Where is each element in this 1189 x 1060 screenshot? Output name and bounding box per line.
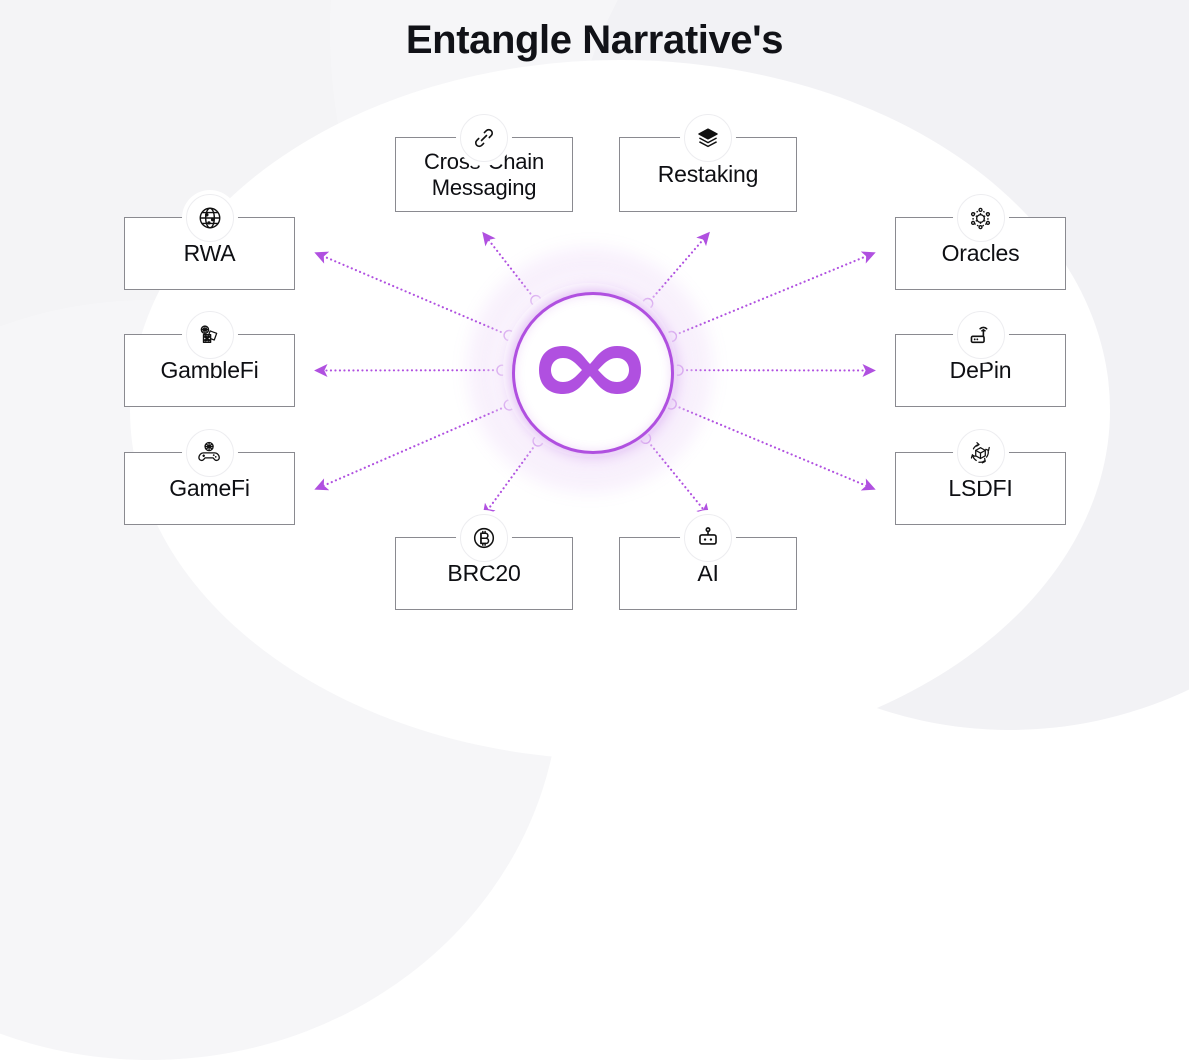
gamepad-icon (186, 429, 234, 477)
narrative-node-label: AI (691, 560, 724, 586)
infinity-icon (503, 283, 677, 457)
diagram-canvas: Entangle Narrative's Cross-ChainMessagin… (0, 0, 1189, 623)
narrative-node-oracles[interactable]: Oracles (895, 217, 1066, 290)
narrative-node-cross-chain-messaging[interactable]: Cross-ChainMessaging (395, 137, 573, 212)
router-icon (957, 311, 1005, 359)
narrative-node-depin[interactable]: DePin (895, 334, 1066, 407)
narrative-node-label: LSDFI (942, 475, 1018, 501)
cube-sync-icon (957, 429, 1005, 477)
dice-icon (186, 311, 234, 359)
network-icon (957, 194, 1005, 242)
narrative-node-restaking[interactable]: Restaking (619, 137, 797, 212)
robot-icon (684, 514, 732, 562)
narrative-node-label: Oracles (936, 240, 1026, 266)
narrative-node-gamblefi[interactable]: GambleFi (124, 334, 295, 407)
narrative-node-label: GameFi (163, 475, 256, 501)
link-icon (460, 114, 508, 162)
narrative-node-gamefi[interactable]: GameFi (124, 452, 295, 525)
bitcoin-icon (460, 514, 508, 562)
narrative-node-rwa[interactable]: RWA (124, 217, 295, 290)
narrative-node-brc20[interactable]: BRC20 (395, 537, 573, 610)
narrative-node-ai[interactable]: AI (619, 537, 797, 610)
narrative-node-label-line2: Messaging (424, 175, 544, 200)
layers-icon (684, 114, 732, 162)
entangle-hub[interactable] (503, 283, 677, 457)
narrative-node-lsdfi[interactable]: LSDFI (895, 452, 1066, 525)
narrative-node-label: RWA (178, 240, 242, 266)
narrative-node-label: GambleFi (154, 357, 264, 383)
globe-icon (186, 194, 234, 242)
narrative-node-label: Restaking (652, 161, 764, 187)
narrative-node-label: BRC20 (441, 560, 526, 586)
narrative-node-label: DePin (944, 357, 1018, 383)
